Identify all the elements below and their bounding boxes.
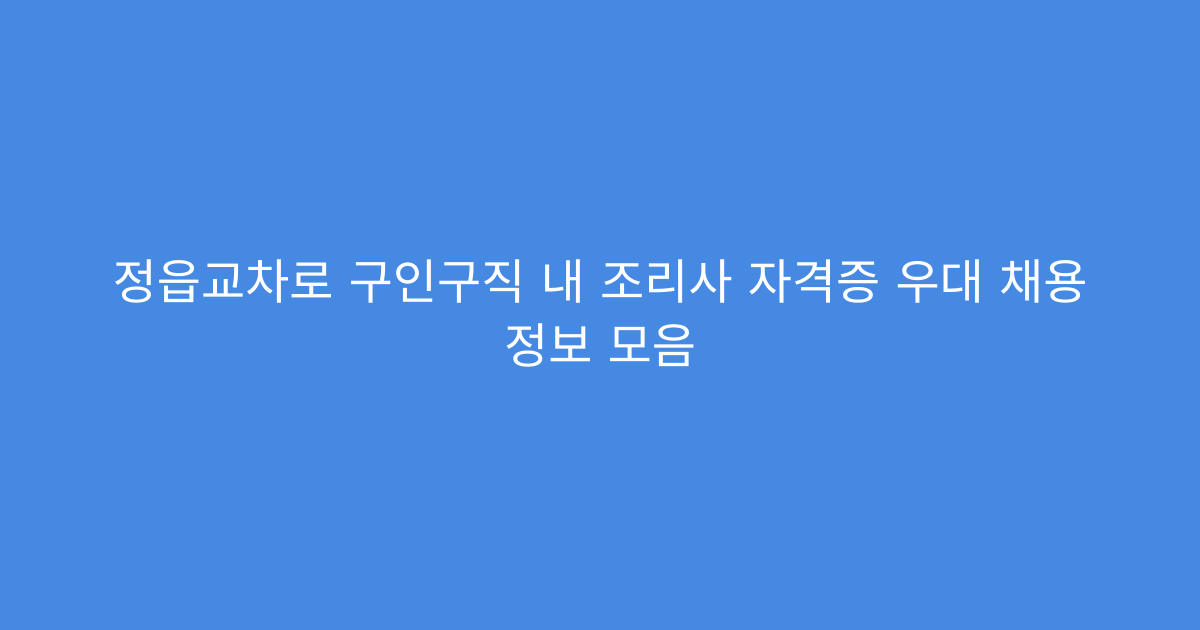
page-title: 정읍교차로 구인구직 내 조리사 자격증 우대 채용 정보 모음 xyxy=(70,251,1130,379)
title-block: 정읍교차로 구인구직 내 조리사 자격증 우대 채용 정보 모음 xyxy=(70,251,1130,379)
og-image-card: 정읍교차로 구인구직 내 조리사 자격증 우대 채용 정보 모음 xyxy=(0,0,1200,630)
